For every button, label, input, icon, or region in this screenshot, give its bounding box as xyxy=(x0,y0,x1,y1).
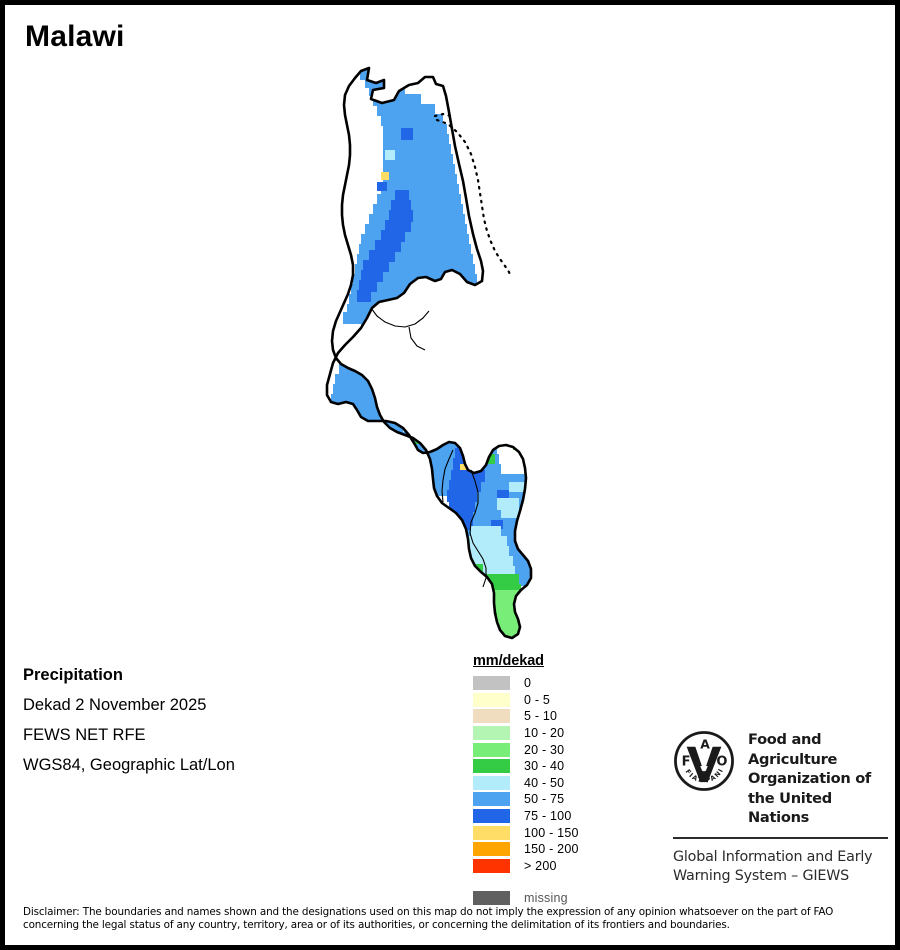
legend-row: 0 - 5 xyxy=(473,692,653,709)
giews-system-name: Global Information and Early Warning Sys… xyxy=(673,848,888,886)
legend-label: 5 - 10 xyxy=(524,709,557,723)
legend-label: 20 - 30 xyxy=(524,743,564,757)
legend-row: 30 - 40 xyxy=(473,758,653,775)
legend-row: > 200 xyxy=(473,858,653,875)
map-legend: mm/dekad 0 0 - 5 5 - 10 10 - 20 20 - 30 … xyxy=(473,653,653,907)
legend-row: 150 - 200 xyxy=(473,841,653,858)
legend-swatch xyxy=(473,743,510,757)
legend-swatch xyxy=(473,826,510,840)
legend-label: 40 - 50 xyxy=(524,776,564,790)
legend-label: 0 xyxy=(524,676,531,690)
legend-row: 50 - 75 xyxy=(473,791,653,808)
fao-divider xyxy=(673,837,888,839)
legend-title: mm/dekad xyxy=(473,653,653,669)
fao-organization-name: Food and Agriculture Organization of the… xyxy=(748,730,888,828)
legend-label: 30 - 40 xyxy=(524,759,564,773)
map-outside-mask xyxy=(5,50,895,650)
legend-swatch xyxy=(473,809,510,823)
legend-swatch xyxy=(473,709,510,723)
info-variable: Precipitation xyxy=(23,660,423,690)
legend-swatch xyxy=(473,726,510,740)
legend-swatch xyxy=(473,776,510,790)
legend-swatch xyxy=(473,792,510,806)
svg-text:F: F xyxy=(682,754,691,769)
info-period: Dekad 2 November 2025 xyxy=(23,690,423,720)
legend-label: 100 - 150 xyxy=(524,826,579,840)
legend-row: 5 - 10 xyxy=(473,708,653,725)
legend-label-missing: missing xyxy=(524,891,568,905)
legend-row: 0 xyxy=(473,675,653,692)
svg-text:A: A xyxy=(700,737,710,752)
legend-label: 0 - 5 xyxy=(524,693,550,707)
legend-swatch xyxy=(473,759,510,773)
legend-swatch-missing xyxy=(473,891,510,905)
legend-row-missing: missing xyxy=(473,890,653,907)
legend-label: 150 - 200 xyxy=(524,842,579,856)
legend-label: 50 - 75 xyxy=(524,792,564,806)
precipitation-map xyxy=(5,50,895,650)
map-body xyxy=(5,50,895,650)
legend-label: > 200 xyxy=(524,859,557,873)
map-page: Malawi xyxy=(0,0,900,950)
legend-swatch xyxy=(473,842,510,856)
legend-swatch xyxy=(473,676,510,690)
legend-label: 75 - 100 xyxy=(524,809,571,823)
map-info-block: Precipitation Dekad 2 November 2025 FEWS… xyxy=(23,660,423,780)
legend-swatch xyxy=(473,859,510,873)
page-title: Malawi xyxy=(25,20,125,54)
fao-logo: F A O FIAT PANIS xyxy=(673,730,735,792)
legend-row: 100 - 150 xyxy=(473,824,653,841)
legend-row: 10 - 20 xyxy=(473,725,653,742)
info-projection: WGS84, Geographic Lat/Lon xyxy=(23,750,423,780)
legend-row: 40 - 50 xyxy=(473,775,653,792)
fao-branding: F A O FIAT PANIS Food and Agriculture Or… xyxy=(673,730,888,886)
legend-row: 75 - 100 xyxy=(473,808,653,825)
legend-row: 20 - 30 xyxy=(473,741,653,758)
info-source: FEWS NET RFE xyxy=(23,720,423,750)
legend-swatch xyxy=(473,693,510,707)
legend-label: 10 - 20 xyxy=(524,726,564,740)
disclaimer-text: Disclaimer: The boundaries and names sho… xyxy=(23,906,883,933)
